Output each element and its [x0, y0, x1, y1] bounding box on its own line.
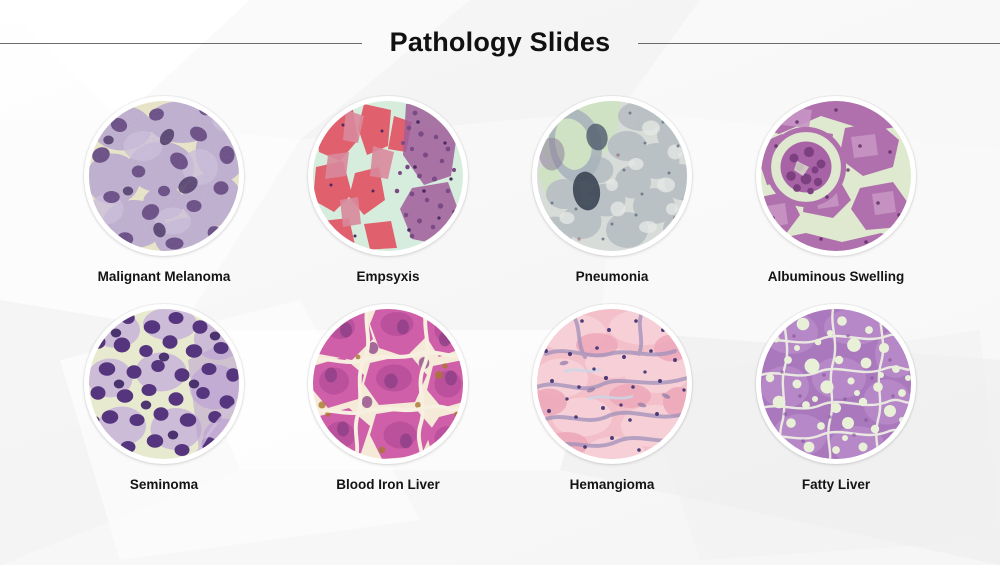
- slide-caption: Empsyxis: [356, 270, 419, 284]
- slide-caption: Blood Iron Liver: [336, 478, 440, 492]
- title-bar: Pathology Slides: [0, 18, 1000, 66]
- slide-caption: Pneumonia: [576, 270, 649, 284]
- slide-caption: Albuminous Swelling: [768, 270, 905, 284]
- slides-grid: Malignant Melanoma: [52, 96, 948, 512]
- micrograph-albuminous-swelling: [761, 101, 911, 251]
- slide-caption: Seminoma: [130, 478, 198, 492]
- slide-cell[interactable]: Hemangioma: [500, 304, 724, 512]
- slide-cell[interactable]: Empsyxis: [276, 96, 500, 304]
- title-rule-left: [0, 43, 362, 44]
- slide-caption: Hemangioma: [570, 478, 655, 492]
- micrograph-pneumonia: [537, 101, 687, 251]
- micrograph-malignant-melanoma: [89, 101, 239, 251]
- micrograph-hemangioma: [537, 309, 687, 459]
- slide-cell[interactable]: Malignant Melanoma: [52, 96, 276, 304]
- micrograph-seminoma: [89, 309, 239, 459]
- micrograph-fatty-liver: [761, 309, 911, 459]
- slide-cell[interactable]: Seminoma: [52, 304, 276, 512]
- page-title: Pathology Slides: [362, 29, 639, 56]
- slide-cell[interactable]: Pneumonia: [500, 96, 724, 304]
- slide-disc-malignant-melanoma[interactable]: [84, 96, 244, 256]
- slide-disc-seminoma[interactable]: [84, 304, 244, 464]
- slide-cell[interactable]: Fatty Liver: [724, 304, 948, 512]
- slide-disc-empsyxis[interactable]: [308, 96, 468, 256]
- micrograph-blood-iron-liver: [313, 309, 463, 459]
- title-rule-right: [638, 43, 1000, 44]
- slide-disc-fatty-liver[interactable]: [756, 304, 916, 464]
- slide-caption: Malignant Melanoma: [98, 270, 231, 284]
- pathology-slides-page: Pathology Slides: [0, 0, 1000, 565]
- slide-disc-hemangioma[interactable]: [532, 304, 692, 464]
- slide-caption: Fatty Liver: [802, 478, 870, 492]
- slide-cell[interactable]: Albuminous Swelling: [724, 96, 948, 304]
- slide-disc-pneumonia[interactable]: [532, 96, 692, 256]
- micrograph-empsyxis: [313, 101, 463, 251]
- slide-disc-albuminous-swelling[interactable]: [756, 96, 916, 256]
- slide-disc-blood-iron-liver[interactable]: [308, 304, 468, 464]
- slide-cell[interactable]: Blood Iron Liver: [276, 304, 500, 512]
